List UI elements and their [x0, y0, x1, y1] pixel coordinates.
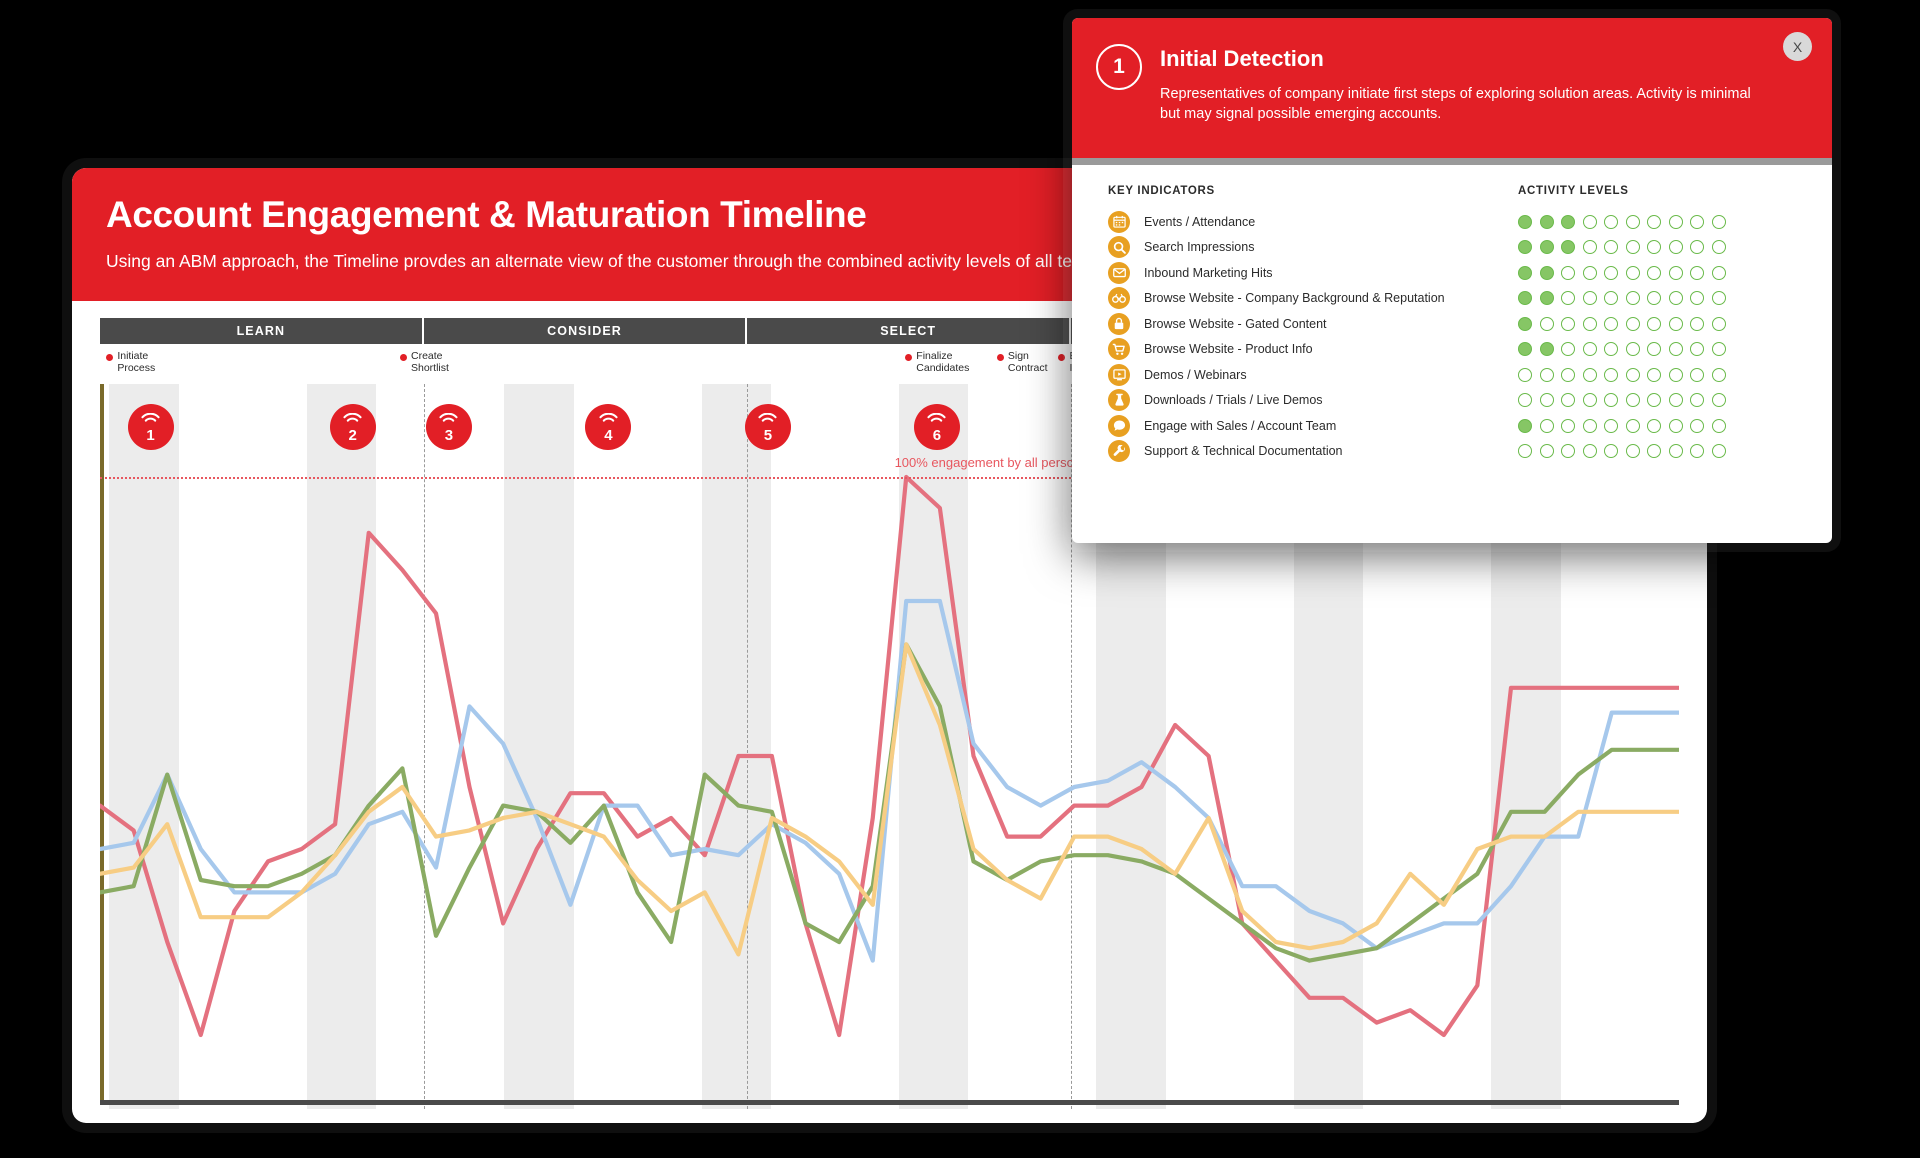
activity-dot: [1540, 317, 1554, 331]
activity-dot: [1518, 419, 1532, 433]
calendar-icon: [1108, 211, 1130, 233]
indicator-row[interactable]: Demos / Webinars: [1108, 362, 1804, 388]
step-number-badge: 1: [1096, 44, 1142, 90]
activity-dot: [1540, 342, 1554, 356]
activity-dot: [1647, 419, 1661, 433]
activity-dot: [1604, 368, 1618, 382]
indicator-row[interactable]: Engage with Sales / Account Team: [1108, 413, 1804, 439]
milestone[interactable]: Finalize Candidates: [905, 350, 969, 375]
activity-dot: [1647, 240, 1661, 254]
activity-dot: [1647, 368, 1661, 382]
activity-dot: [1604, 215, 1618, 229]
activity-dot: [1647, 342, 1661, 356]
col-key-indicators: KEY INDICATORS: [1108, 185, 1518, 197]
activity-dot: [1647, 266, 1661, 280]
milestone[interactable]: Create Shortlist: [400, 350, 449, 375]
activity-level-dots: [1518, 240, 1726, 254]
activity-dot: [1540, 393, 1554, 407]
activity-dot: [1518, 317, 1532, 331]
activity-dot: [1669, 393, 1683, 407]
step-detail-popup: 1 Initial Detection Representatives of c…: [1072, 18, 1832, 543]
activity-level-dots: [1518, 266, 1726, 280]
activity-dot: [1583, 444, 1597, 458]
activity-dot: [1626, 419, 1640, 433]
activity-dot: [1626, 240, 1640, 254]
activity-dot: [1669, 368, 1683, 382]
activity-dot: [1583, 368, 1597, 382]
screen-root: Account Engagement & Maturation Timeline…: [0, 0, 1920, 1158]
indicator-row[interactable]: Search Impressions: [1108, 235, 1804, 261]
activity-dot: [1561, 215, 1575, 229]
wifi-icon: [141, 412, 160, 429]
wifi-icon: [599, 412, 618, 429]
activity-dot: [1583, 240, 1597, 254]
search-icon: [1108, 236, 1130, 258]
wifi-step-marker-4[interactable]: 4: [585, 404, 631, 450]
threshold-label: 100% engagement by all personas: [895, 455, 1095, 470]
milestone[interactable]: Initiate Process: [106, 350, 155, 375]
activity-dot: [1518, 266, 1532, 280]
activity-dot: [1561, 291, 1575, 305]
indicator-row[interactable]: Browse Website - Company Background & Re…: [1108, 286, 1804, 312]
binoculars-icon: [1108, 287, 1130, 309]
popup-header: 1 Initial Detection Representatives of c…: [1072, 18, 1832, 158]
activity-dot: [1712, 291, 1726, 305]
activity-dot: [1712, 317, 1726, 331]
stage-cell-select[interactable]: SELECT: [747, 318, 1071, 344]
popup-divider: [1072, 158, 1832, 165]
activity-dot: [1669, 291, 1683, 305]
popup-description: Representatives of company initiate firs…: [1160, 84, 1765, 125]
indicator-row[interactable]: Events / Attendance: [1108, 209, 1804, 235]
wifi-icon: [758, 412, 777, 429]
activity-level-dots: [1518, 215, 1726, 229]
activity-dot: [1604, 342, 1618, 356]
activity-dot: [1561, 240, 1575, 254]
activity-dot: [1690, 444, 1704, 458]
indicator-label: Support & Technical Documentation: [1144, 444, 1518, 458]
activity-dot: [1561, 342, 1575, 356]
chat-bubble-icon: [1108, 415, 1130, 437]
activity-dot: [1561, 393, 1575, 407]
milestone-dot-icon: [1058, 354, 1065, 361]
activity-dot: [1669, 240, 1683, 254]
activity-dot: [1583, 393, 1597, 407]
indicator-row[interactable]: Browse Website - Gated Content: [1108, 311, 1804, 337]
activity-dot: [1583, 317, 1597, 331]
activity-level-dots: [1518, 342, 1726, 356]
indicator-label: Inbound Marketing Hits: [1144, 266, 1518, 280]
indicator-label: Engage with Sales / Account Team: [1144, 419, 1518, 433]
activity-dot: [1604, 317, 1618, 331]
indicator-label: Demos / Webinars: [1144, 368, 1518, 382]
activity-dot: [1626, 444, 1640, 458]
wifi-step-marker-3[interactable]: 3: [426, 404, 472, 450]
activity-dot: [1690, 368, 1704, 382]
activity-dot: [1647, 291, 1661, 305]
activity-dot: [1604, 444, 1618, 458]
wifi-step-number: 6: [933, 428, 941, 443]
activity-dot: [1669, 419, 1683, 433]
activity-dot: [1518, 291, 1532, 305]
activity-dot: [1583, 266, 1597, 280]
milestone-label: Initiate Process: [117, 350, 155, 375]
screen-play-icon: [1108, 364, 1130, 386]
indicator-row[interactable]: Support & Technical Documentation: [1108, 439, 1804, 465]
activity-level-dots: [1518, 368, 1726, 382]
activity-dot: [1604, 291, 1618, 305]
milestone-dot-icon: [905, 354, 912, 361]
wifi-step-marker-5[interactable]: 5: [745, 404, 791, 450]
activity-dot: [1712, 266, 1726, 280]
activity-level-dots: [1518, 444, 1726, 458]
milestone-dot-icon: [400, 354, 407, 361]
envelope-icon: [1108, 262, 1130, 284]
activity-dot: [1583, 215, 1597, 229]
activity-dot: [1626, 317, 1640, 331]
activity-dot: [1540, 368, 1554, 382]
stage-cell-learn[interactable]: LEARN: [100, 318, 424, 344]
activity-dot: [1626, 266, 1640, 280]
wifi-step-number: 4: [604, 428, 612, 443]
activity-dot: [1583, 419, 1597, 433]
activity-dot: [1647, 317, 1661, 331]
activity-dot: [1712, 240, 1726, 254]
indicator-label: Browse Website - Product Info: [1144, 342, 1518, 356]
activity-dot: [1712, 444, 1726, 458]
activity-dot: [1540, 266, 1554, 280]
activity-dot: [1712, 419, 1726, 433]
stage-cell-consider[interactable]: CONSIDER: [424, 318, 748, 344]
wifi-step-number: 3: [445, 428, 453, 443]
indicator-table-header: KEY INDICATORS ACTIVITY LEVELS: [1108, 185, 1804, 197]
activity-dot: [1518, 215, 1532, 229]
popup-title: Initial Detection: [1160, 46, 1765, 72]
col-activity-levels: ACTIVITY LEVELS: [1518, 185, 1629, 197]
activity-dot: [1561, 444, 1575, 458]
activity-dot: [1561, 368, 1575, 382]
indicator-label: Downloads / Trials / Live Demos: [1144, 393, 1518, 407]
activity-level-dots: [1518, 419, 1726, 433]
activity-dot: [1712, 215, 1726, 229]
flask-icon: [1108, 389, 1130, 411]
activity-dot: [1583, 291, 1597, 305]
wifi-step-number: 1: [146, 428, 154, 443]
activity-dot: [1540, 215, 1554, 229]
cart-icon: [1108, 338, 1130, 360]
close-icon[interactable]: X: [1783, 32, 1812, 61]
activity-dot: [1690, 266, 1704, 280]
activity-dot: [1647, 393, 1661, 407]
activity-dot: [1669, 444, 1683, 458]
activity-dot: [1712, 342, 1726, 356]
activity-dot: [1561, 317, 1575, 331]
indicator-label: Browse Website - Gated Content: [1144, 317, 1518, 331]
indicator-row[interactable]: Downloads / Trials / Live Demos: [1108, 388, 1804, 414]
wifi-step-marker-1[interactable]: 1: [128, 404, 174, 450]
activity-dot: [1518, 342, 1532, 356]
milestone-dot-icon: [106, 354, 113, 361]
milestone-label: Sign Contract: [1008, 350, 1048, 375]
indicator-label: Browse Website - Company Background & Re…: [1144, 291, 1518, 305]
activity-dot: [1604, 393, 1618, 407]
chart-legend: Small ConnectLarge ConnectSmall Transfor…: [72, 1115, 1707, 1123]
activity-dot: [1626, 368, 1640, 382]
activity-dot: [1669, 266, 1683, 280]
activity-dot: [1561, 419, 1575, 433]
wifi-step-marker-6[interactable]: 6: [914, 404, 960, 450]
wifi-step-number: 5: [764, 428, 772, 443]
activity-dot: [1604, 419, 1618, 433]
indicator-row[interactable]: Inbound Marketing Hits: [1108, 260, 1804, 286]
activity-dot: [1690, 342, 1704, 356]
activity-dot: [1540, 240, 1554, 254]
activity-level-dots: [1518, 393, 1726, 407]
activity-dot: [1690, 215, 1704, 229]
milestone[interactable]: Sign Contract: [997, 350, 1048, 375]
activity-dot: [1669, 342, 1683, 356]
activity-dot: [1540, 444, 1554, 458]
activity-dot: [1690, 317, 1704, 331]
indicator-label: Events / Attendance: [1144, 215, 1518, 229]
activity-dot: [1604, 240, 1618, 254]
milestone-label: Create Shortlist: [411, 350, 449, 375]
milestone-label: Finalize Candidates: [916, 350, 969, 375]
wifi-icon: [439, 412, 458, 429]
activity-dot: [1669, 317, 1683, 331]
wifi-icon: [927, 412, 946, 429]
activity-dot: [1626, 215, 1640, 229]
indicator-list: Events / AttendanceSearch ImpressionsInb…: [1108, 209, 1804, 464]
wifi-step-marker-2[interactable]: 2: [330, 404, 376, 450]
activity-dot: [1626, 342, 1640, 356]
popup-body: KEY INDICATORS ACTIVITY LEVELS Events / …: [1072, 165, 1832, 474]
activity-dot: [1712, 368, 1726, 382]
wifi-step-number: 2: [348, 428, 356, 443]
wrench-icon: [1108, 440, 1130, 462]
wifi-icon: [343, 412, 362, 429]
activity-dot: [1669, 215, 1683, 229]
indicator-row[interactable]: Browse Website - Product Info: [1108, 337, 1804, 363]
activity-dot: [1690, 291, 1704, 305]
activity-dot: [1518, 444, 1532, 458]
lock-icon: [1108, 313, 1130, 335]
milestone-dot-icon: [997, 354, 1004, 361]
activity-dot: [1647, 444, 1661, 458]
activity-dot: [1518, 368, 1532, 382]
activity-dot: [1604, 266, 1618, 280]
activity-level-dots: [1518, 291, 1726, 305]
activity-dot: [1712, 393, 1726, 407]
activity-dot: [1626, 393, 1640, 407]
activity-dot: [1518, 240, 1532, 254]
activity-dot: [1518, 393, 1532, 407]
indicator-label: Search Impressions: [1144, 240, 1518, 254]
activity-dot: [1583, 342, 1597, 356]
activity-dot: [1690, 240, 1704, 254]
activity-dot: [1690, 419, 1704, 433]
activity-dot: [1561, 266, 1575, 280]
activity-dot: [1540, 419, 1554, 433]
activity-level-dots: [1518, 317, 1726, 331]
activity-dot: [1690, 393, 1704, 407]
activity-dot: [1540, 291, 1554, 305]
activity-dot: [1647, 215, 1661, 229]
activity-dot: [1626, 291, 1640, 305]
